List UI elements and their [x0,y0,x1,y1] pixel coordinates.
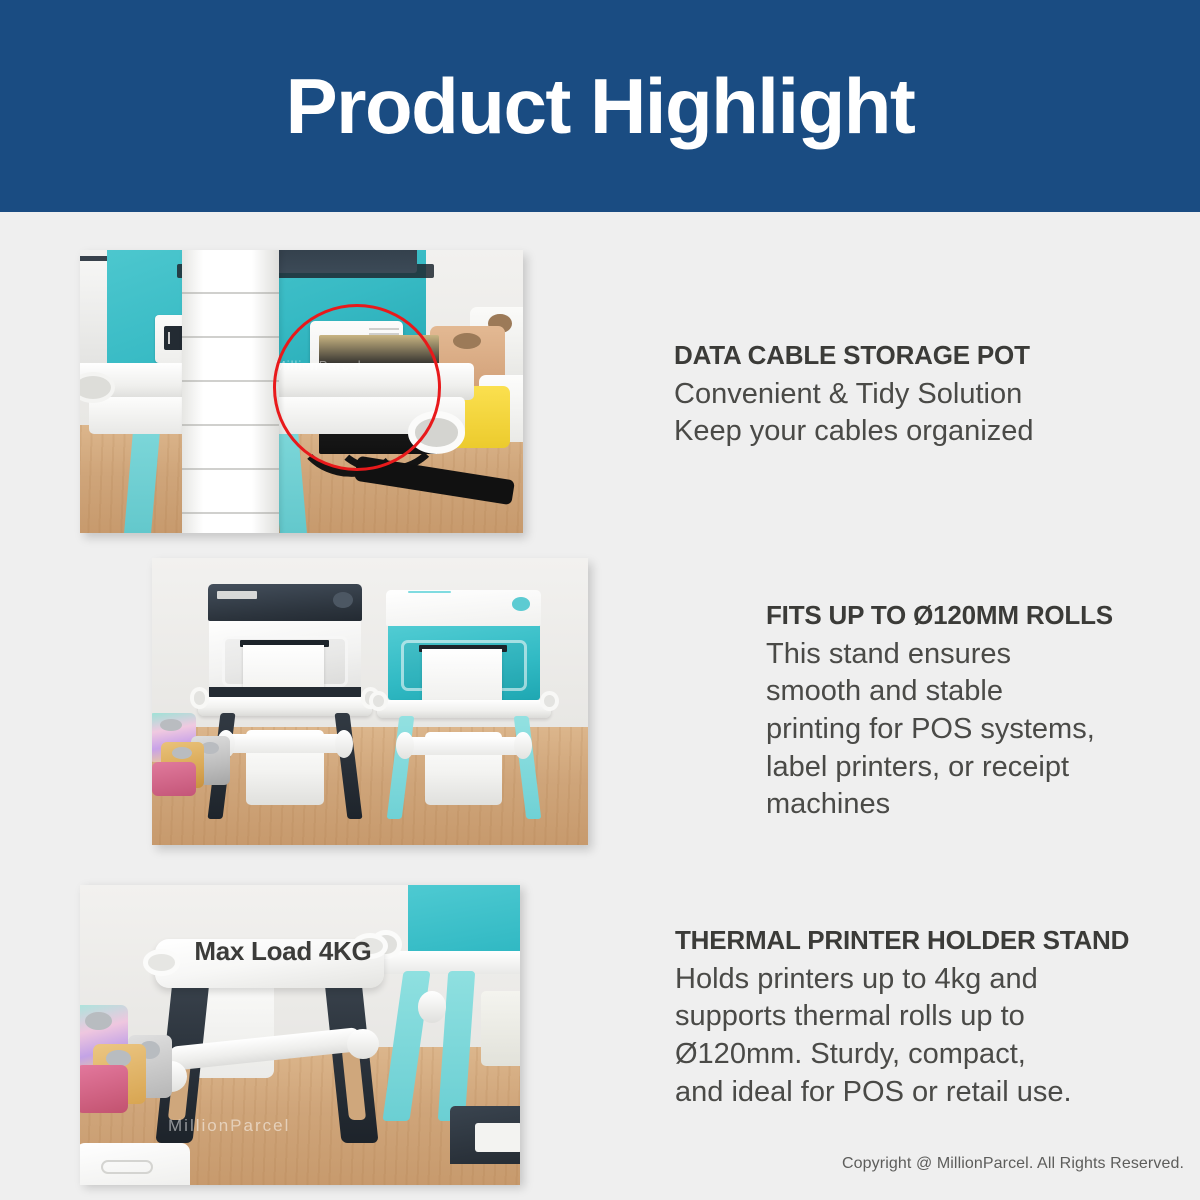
secondary-teal-stand [370,885,520,1158]
device-button [101,1160,154,1173]
feature-heading: FITS UP TO Ø120MM ROLLS [766,600,1196,631]
thermal-printer-holder-stand [155,939,384,1143]
rod-cap [418,991,447,1023]
feature-heading: DATA CABLE STORAGE POT [674,340,1194,371]
feature-body-line: machines [766,786,1196,824]
feature-body-line: Ø120mm. Sturdy, compact, [675,1036,1200,1074]
feature-body-line: and ideal for POS or retail use. [675,1074,1200,1112]
product-highlight-page: Product Highlight [0,0,1200,1200]
printer-knob [512,597,531,611]
feature-image-thermal-printer-holder-stand: MillionParcel Max Load 4KG [80,885,520,1185]
roll-holder-rod [406,737,522,755]
rod-cap-right [335,730,353,758]
feature-body-line: Keep your cables organized [674,413,1194,451]
printer-stand-teal-unit [383,590,544,820]
printer-top-cover-white [386,590,541,627]
feature-body: Holds printers up to 4kg and supports th… [675,961,1200,1112]
roll-core [201,742,219,755]
feature-body-line: supports thermal rolls up to [675,998,1200,1036]
adjacent-white-device [475,1123,520,1152]
cable-storage-pot-ring [408,411,466,453]
feature-heading: THERMAL PRINTER HOLDER STAND [675,925,1200,956]
leg-cutout [341,1048,366,1120]
roll-core [85,1012,112,1030]
photo-watermark: MillionParcel [275,358,362,373]
roll-holder-rod [227,734,343,753]
stand-leg-right [438,971,475,1121]
printer-brand-badge [217,591,257,599]
white-label-printer [80,1143,190,1185]
feature-text-thermal-printer-holder-stand: THERMAL PRINTER HOLDER STAND Holds print… [675,925,1200,1111]
rod-cap-right [514,732,532,760]
roll-core [160,719,182,732]
max-load-badge: Max Load 4KG [194,936,371,967]
copyright-notice: Copyright @ MillionParcel. All Rights Re… [842,1155,1184,1173]
roll-core [453,333,482,349]
stand-leg-right [325,980,379,1143]
photo-scene [152,558,588,845]
feature-body-line: This stand ensures [766,636,1196,674]
feature-body-line: Holds printers up to 4kg and [675,961,1200,999]
feature-body-line: printing for POS systems, [766,711,1196,749]
stand-hook-left [190,687,209,708]
photo-scene: MillionParcel [80,250,523,533]
stand-hook-left [369,691,388,712]
printer-knob [333,592,353,608]
feature-text-fits-120mm-rolls: FITS UP TO Ø120MM ROLLS This stand ensur… [766,600,1196,824]
printer-label-output [422,649,503,702]
ribbon-roll-pink [152,762,196,796]
roll-core [172,747,192,759]
stand-hook-right [540,691,559,712]
photo-scene: MillionParcel Max Load 4KG [80,885,520,1185]
feature-image-fits-120mm-rolls [152,558,588,845]
page-header: Product Highlight [0,0,1200,212]
feature-image-data-cable-storage-pot: MillionParcel [80,250,523,533]
feature-body-line: smooth and stable [766,673,1196,711]
ribbon-roll-pink [80,1065,128,1113]
stand-hook-left [143,949,180,976]
printer-brand-badge [408,591,451,593]
stand-leg-right [335,713,363,819]
stand-leg-right [514,716,541,819]
teal-printer-partial [408,885,520,956]
rod-cap-right [347,1029,379,1060]
photo-watermark: MillionParcel [168,1116,290,1136]
rod-cap-left [396,732,414,760]
feature-body: Convenient & Tidy Solution Keep your cab… [674,376,1194,451]
feature-body-line: Convenient & Tidy Solution [674,376,1194,414]
feature-body: This stand ensures smooth and stable pri… [766,636,1196,824]
stand-leg-left [386,716,413,819]
printer-stand-black-unit [204,584,365,819]
feature-text-data-cable-storage-pot: DATA CABLE STORAGE POT Convenient & Tidy… [674,340,1194,451]
page-title: Product Highlight [286,67,915,145]
feature-body-line: label printers, or receipt [766,749,1196,787]
label-paper-strip [182,250,279,533]
printer-top-cover-dark [208,584,363,622]
thermal-paper-roll [481,991,520,1066]
